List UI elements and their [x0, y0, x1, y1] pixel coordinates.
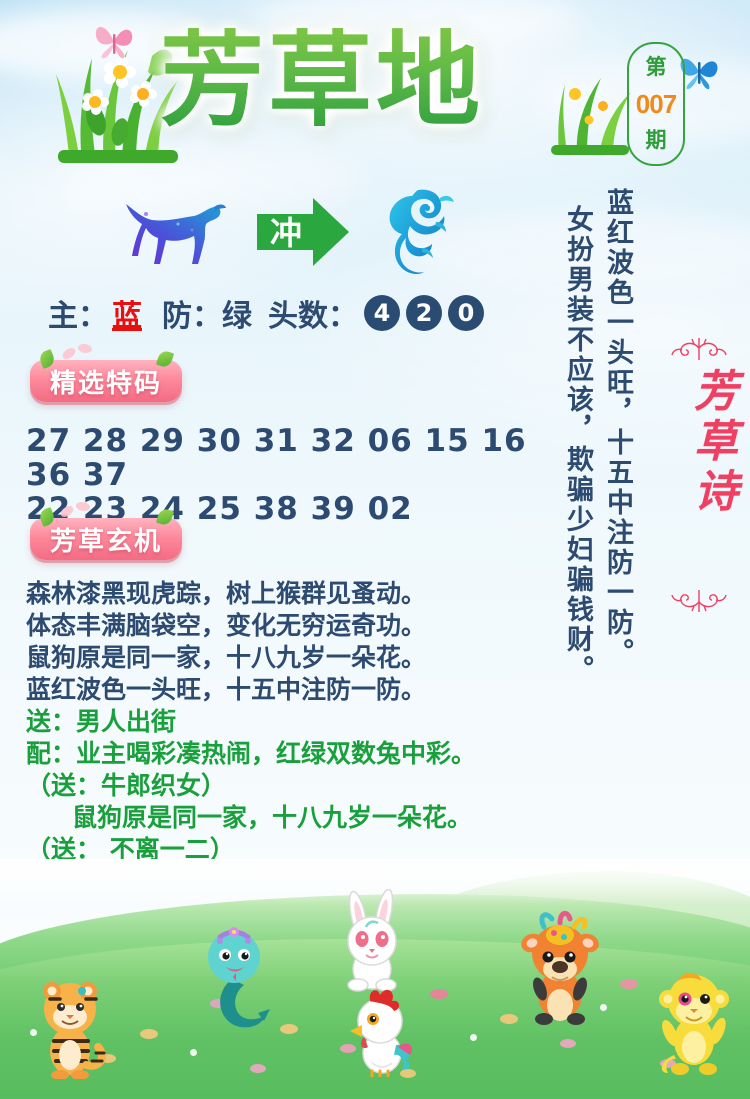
vertical-verse-right: 蓝红波色一头旺，十五中注防一防。	[602, 188, 632, 758]
main-label: 主：	[48, 291, 108, 335]
flower-dot	[280, 1024, 298, 1034]
butterfly-icon	[92, 20, 136, 60]
flower-dot	[140, 1029, 158, 1039]
flower-dot	[430, 989, 448, 999]
issue-suffix: 期	[646, 130, 667, 151]
issue-prefix: 第	[646, 57, 667, 78]
ornament-icon	[668, 590, 730, 612]
rooster-icon	[346, 977, 418, 1077]
zodiac-transition-row: 冲	[0, 186, 560, 278]
grass-flowers-decoration-small	[545, 60, 635, 155]
flower-dot	[250, 1064, 266, 1073]
tiger-cub-icon	[36, 969, 112, 1079]
poster-header: 芳草地 第 007 期	[0, 0, 750, 185]
ornament-icon	[668, 338, 730, 360]
arrow-label-wrap: 冲	[255, 196, 351, 268]
featured-numbers-block: 27 28 29 30 31 32 06 15 16 36 37 22 23 2…	[26, 424, 556, 526]
ox-icon	[518, 909, 600, 1029]
numbers-row-1: 27 28 29 30 31 32 06 15 16 36 37	[26, 424, 556, 492]
dog-icon	[118, 194, 228, 266]
meadow-scene	[0, 859, 750, 1099]
poster-canvas: 芳草地 第 007 期 冲	[0, 0, 750, 1099]
head-number-ball: 4	[364, 295, 400, 331]
flower-dot	[500, 1014, 518, 1024]
dragon-icon	[378, 186, 456, 276]
poem-block: 森林漆黑现虎踪，树上猴群见蚤动。 体态丰满脑袋空，变化无穷运奇功。 鼠狗原是同一…	[26, 578, 556, 866]
issue-badge: 第 007 期	[627, 42, 685, 166]
snake-icon	[200, 921, 272, 1041]
poem-line: 送：男人出街	[26, 706, 556, 738]
flower-dot	[560, 1039, 576, 1048]
issue-number: 007	[636, 91, 676, 117]
head-number-ball: 0	[448, 295, 484, 331]
poem-line: 蓝红波色一头旺，十五中注防一防。	[26, 674, 556, 706]
defend-value: 绿	[222, 291, 252, 335]
poem-line: 鼠狗原是同一家，十八九岁一朵花。	[26, 642, 556, 674]
section-label-featured-numbers: 精选特码	[30, 360, 182, 402]
poem-line: 森林漆黑现虎踪，树上猴群见蚤动。	[26, 578, 556, 610]
vertical-verse-left: 女扮男装不应该，欺骗少妇骗钱财。	[562, 205, 592, 765]
petal-decoration	[61, 346, 77, 360]
page-title: 芳草地	[160, 28, 484, 132]
flower-dot	[470, 1034, 477, 1041]
heads-label: 头数：	[268, 291, 358, 335]
info-line: 主： 蓝 防： 绿 头数： 4 2 0	[48, 291, 484, 335]
arrow-label: 冲	[263, 213, 309, 253]
poem-line: 体态丰满脑袋空，变化无穷运奇功。	[26, 610, 556, 642]
poem-line: 鼠狗原是同一家，十八九岁一朵花。	[26, 802, 556, 834]
head-number-ball: 2	[406, 295, 442, 331]
poem-line: （送：牛郎织女）	[26, 770, 556, 802]
flower-dot	[620, 979, 638, 989]
section-label-mystery: 芳草玄机	[30, 518, 182, 560]
petal-decoration	[77, 342, 93, 355]
main-value: 蓝	[112, 291, 142, 335]
flower-dot	[600, 1004, 607, 1011]
monkey-icon	[656, 959, 734, 1077]
defend-label: 防：	[162, 291, 222, 335]
flower-dot	[190, 1049, 197, 1056]
poem-line: 配：业主喝彩凑热闹，红绿双数兔中彩。	[26, 738, 556, 770]
calligraphy-title: 芳草诗	[678, 368, 744, 518]
